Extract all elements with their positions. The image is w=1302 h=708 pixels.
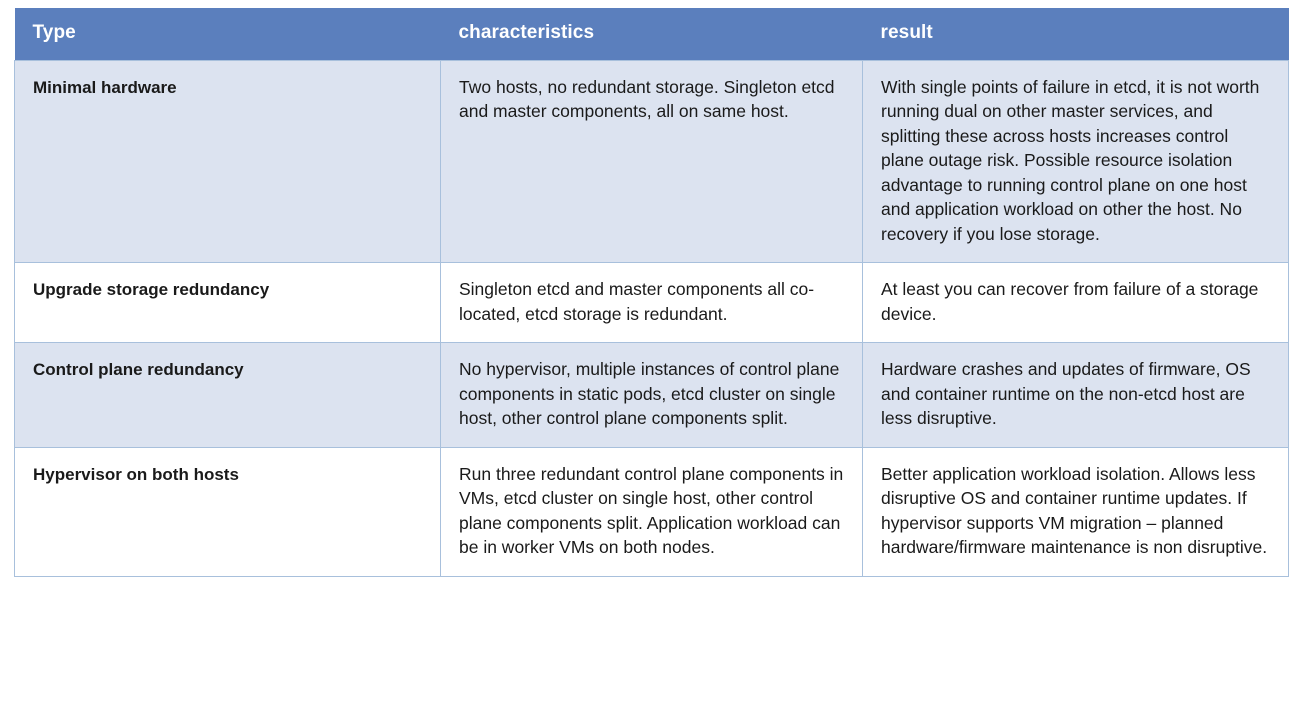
- cell-characteristics: Singleton etcd and master components all…: [441, 263, 863, 343]
- table-header-row: Type characteristics result: [15, 8, 1289, 60]
- column-header-result: result: [863, 8, 1289, 60]
- comparison-table: Type characteristics result Minimal hard…: [14, 8, 1289, 577]
- cell-characteristics: No hypervisor, multiple instances of con…: [441, 343, 863, 448]
- cell-result-text: At least you can recover from failure of…: [881, 277, 1270, 326]
- comparison-table-container: Type characteristics result Minimal hard…: [14, 8, 1288, 577]
- cell-result: With single points of failure in etcd, i…: [863, 60, 1289, 263]
- cell-type-text: Hypervisor on both hosts: [33, 463, 422, 487]
- cell-characteristics: Two hosts, no redundant storage. Singlet…: [441, 60, 863, 263]
- cell-type-text: Control plane redundancy: [33, 358, 422, 382]
- table-row: Control plane redundancy No hypervisor, …: [15, 343, 1289, 448]
- cell-type: Hypervisor on both hosts: [15, 447, 441, 576]
- cell-result-text: Hardware crashes and updates of firmware…: [881, 357, 1270, 431]
- cell-result: Better application workload isolation. A…: [863, 447, 1289, 576]
- cell-characteristics-text: Singleton etcd and master components all…: [459, 277, 844, 326]
- cell-type-text: Upgrade storage redundancy: [33, 278, 422, 302]
- column-header-type: Type: [15, 8, 441, 60]
- cell-result-text: Better application workload isolation. A…: [881, 462, 1270, 560]
- table-row: Upgrade storage redundancy Singleton etc…: [15, 263, 1289, 343]
- cell-type-text: Minimal hardware: [33, 76, 422, 100]
- cell-characteristics-text: Two hosts, no redundant storage. Singlet…: [459, 75, 844, 124]
- table-row: Hypervisor on both hosts Run three redun…: [15, 447, 1289, 576]
- cell-characteristics-text: Run three redundant control plane compon…: [459, 462, 844, 560]
- cell-type: Upgrade storage redundancy: [15, 263, 441, 343]
- table-header: Type characteristics result: [15, 8, 1289, 60]
- cell-type: Minimal hardware: [15, 60, 441, 263]
- table-body: Minimal hardware Two hosts, no redundant…: [15, 60, 1289, 576]
- table-row: Minimal hardware Two hosts, no redundant…: [15, 60, 1289, 263]
- cell-result-text: With single points of failure in etcd, i…: [881, 75, 1270, 247]
- column-header-characteristics: characteristics: [441, 8, 863, 60]
- cell-characteristics-text: No hypervisor, multiple instances of con…: [459, 357, 844, 431]
- cell-type: Control plane redundancy: [15, 343, 441, 448]
- cell-result: Hardware crashes and updates of firmware…: [863, 343, 1289, 448]
- cell-characteristics: Run three redundant control plane compon…: [441, 447, 863, 576]
- cell-result: At least you can recover from failure of…: [863, 263, 1289, 343]
